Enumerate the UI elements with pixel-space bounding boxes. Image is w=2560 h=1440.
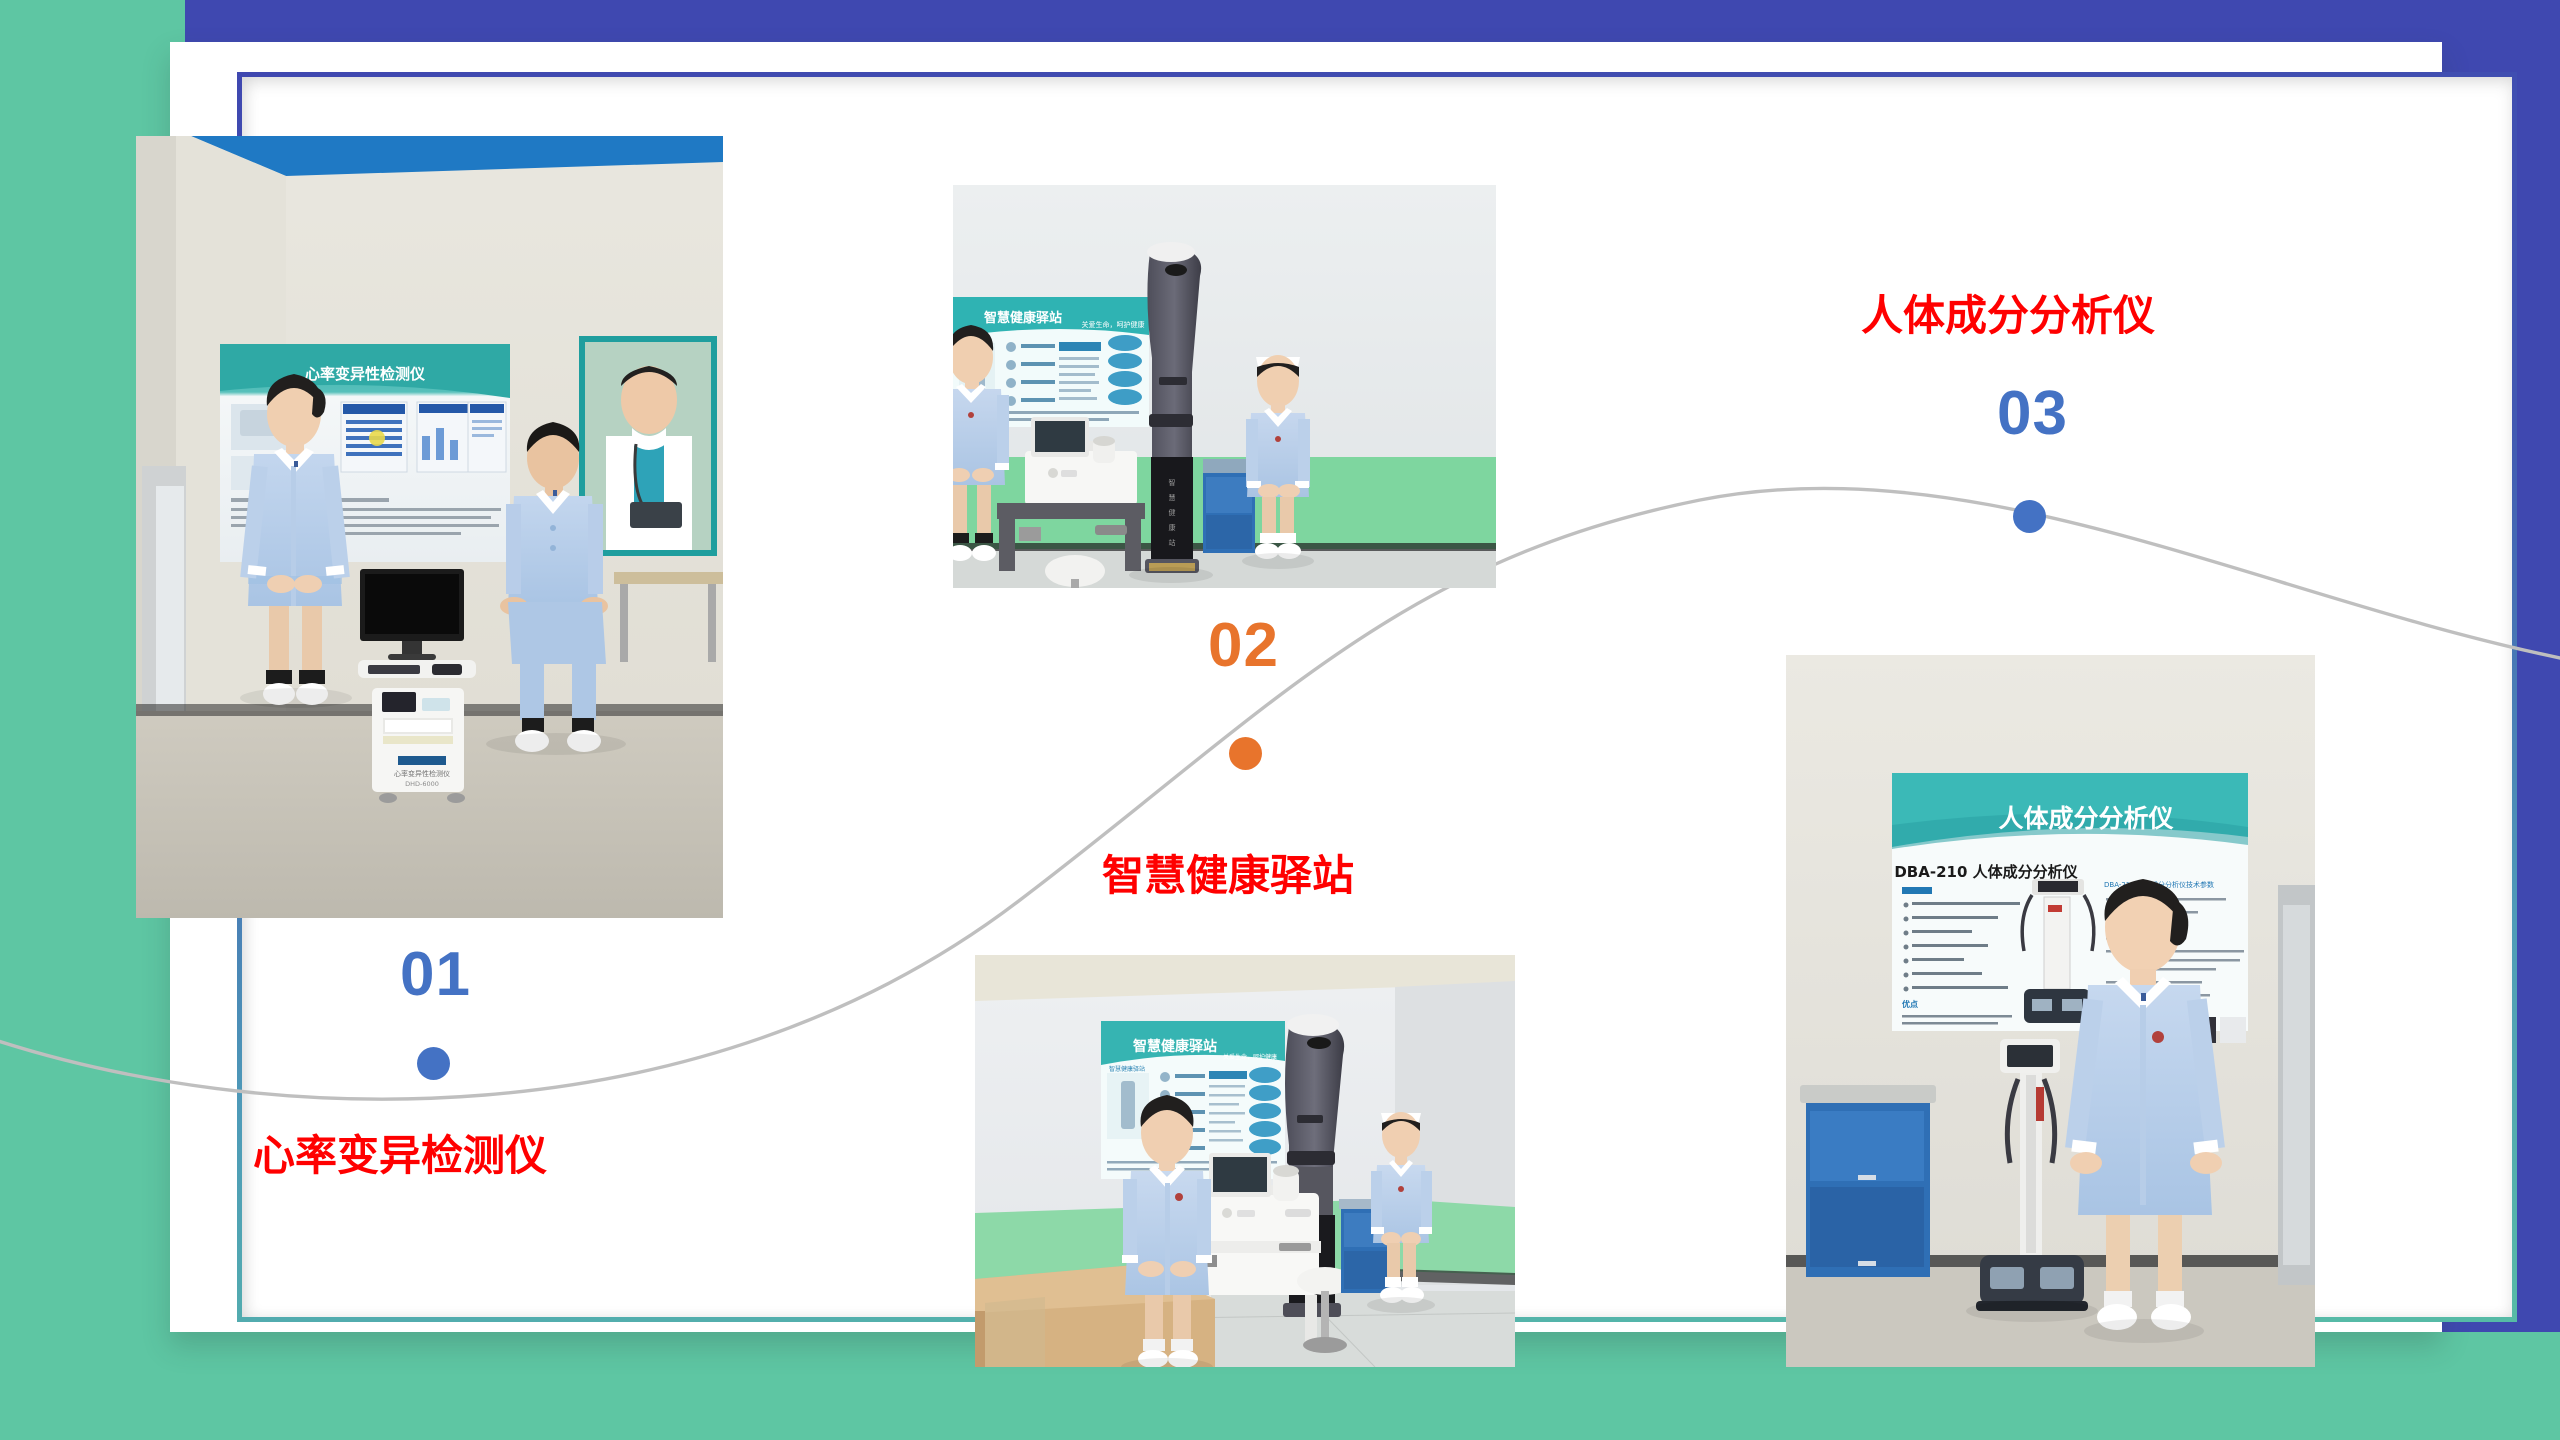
- svg-text:关爱生命，呵护健康: 关爱生命，呵护健康: [1082, 320, 1145, 329]
- photo-body-composition-analyzer[interactable]: 人体成分分析仪 DBA-210 人体成分分析仪 优点: [1786, 655, 2315, 1367]
- item-number-03: 03: [1997, 383, 2068, 445]
- item-number-02: 02: [1208, 615, 1279, 677]
- photo-smart-health-station-top[interactable]: 智慧健康驿站 关爱生命，呵护健康: [953, 185, 1496, 588]
- svg-text:智慧健康驿站: 智慧健康驿站: [1109, 1065, 1145, 1073]
- svg-text:站: 站: [1169, 538, 1176, 547]
- svg-text:慧: 慧: [1169, 493, 1176, 502]
- svg-text:关爱生命，呵护健康: 关爱生命，呵护健康: [1223, 1053, 1277, 1061]
- svg-text:康: 康: [1169, 523, 1176, 532]
- slide-canvas: 心率变异性检测仪: [0, 0, 2560, 1440]
- item-dot-03: [2013, 500, 2046, 533]
- background-corner-wedge: [0, 0, 185, 42]
- item-name-01: 心率变异检测仪: [253, 1135, 547, 1177]
- svg-text:心率变异性检测仪: 心率变异性检测仪: [305, 365, 426, 383]
- photo-hrv-detector[interactable]: 心率变异性检测仪: [136, 136, 723, 918]
- svg-text:人体成分分析仪: 人体成分分析仪: [1998, 804, 2174, 833]
- svg-text:健: 健: [1169, 508, 1176, 517]
- svg-text:DHD-6000: DHD-6000: [405, 780, 439, 788]
- svg-text:智慧健康驿站: 智慧健康驿站: [1132, 1038, 1217, 1055]
- item-name-03: 人体成分分析仪: [1861, 295, 2155, 337]
- photo-smart-health-station-wide[interactable]: 智慧健康驿站 关爱生命，呵护健康 智慧健康驿站: [975, 955, 1515, 1367]
- svg-text:智慧健康驿站: 智慧健康驿站: [984, 310, 1062, 326]
- background-blue-top-band: [185, 0, 2560, 42]
- svg-text:DBA-210 人体成分分析仪: DBA-210 人体成分分析仪: [1894, 863, 2078, 881]
- svg-text:优点: 优点: [1902, 999, 1918, 1009]
- item-dot-02: [1229, 737, 1262, 770]
- svg-text:心率变异性检测仪: 心率变异性检测仪: [394, 769, 450, 778]
- item-number-01: 01: [400, 944, 471, 1006]
- svg-text:智: 智: [1169, 478, 1176, 487]
- item-dot-01: [417, 1047, 450, 1080]
- item-name-02: 智慧健康驿站: [1102, 855, 1354, 897]
